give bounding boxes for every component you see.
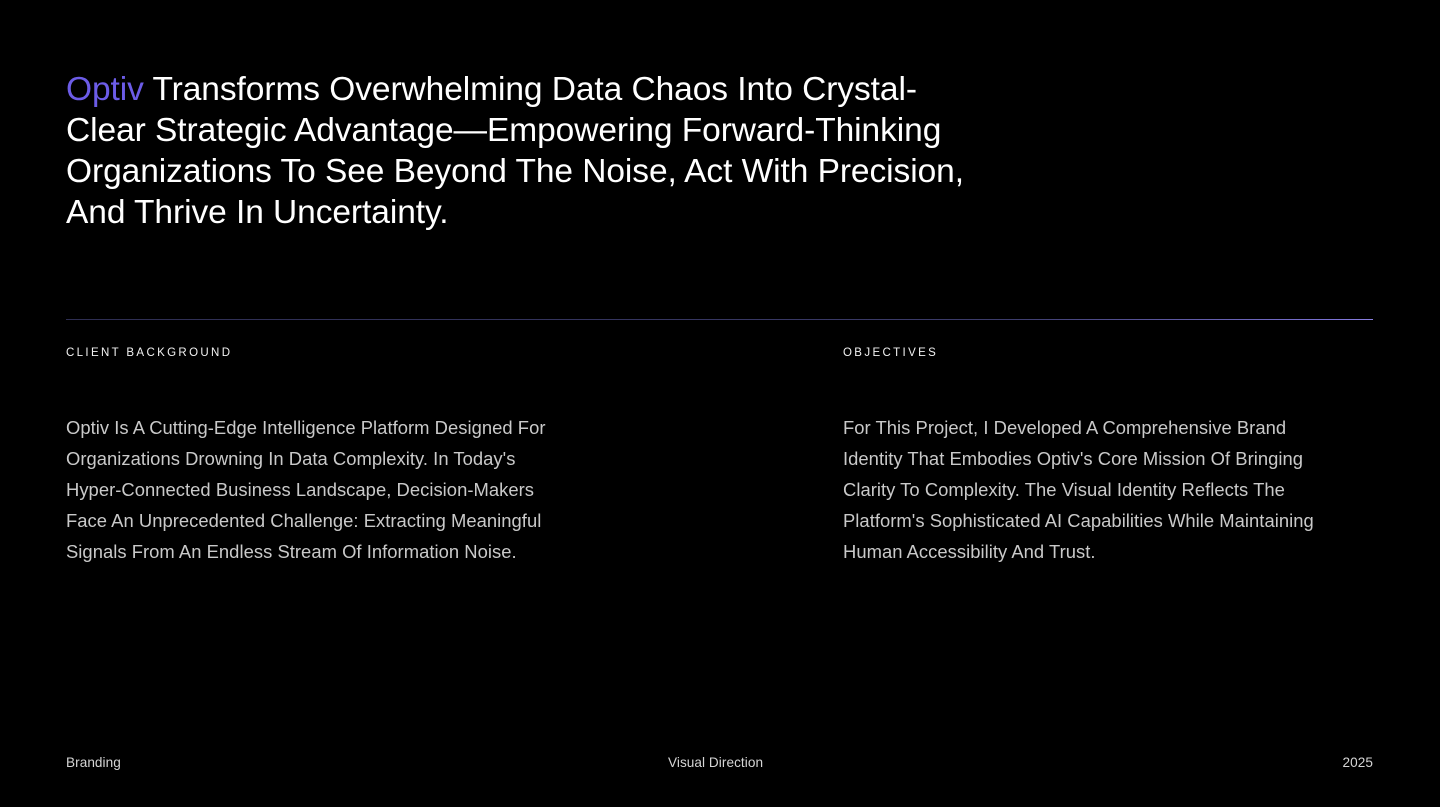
content-columns: Client Background Optiv Is A Cutting-Edg…: [66, 345, 1373, 567]
footer-discipline: Visual Direction: [668, 752, 763, 774]
page-title-rest: Transforms Overwhelming Data Chaos Into …: [66, 71, 964, 231]
section-body-client-background: Optiv Is A Cutting-Edge Intelligence Pla…: [66, 412, 566, 567]
section-body-objectives: For This Project, I Developed A Comprehe…: [843, 412, 1343, 567]
section-divider: [66, 319, 1373, 320]
section-label-objectives: Objectives: [843, 345, 1343, 361]
footer-category: Branding: [66, 752, 121, 774]
section-label-client-background: Client Background: [66, 345, 566, 361]
section-objectives: Objectives For This Project, I Developed…: [843, 345, 1343, 567]
footer-year: 2025: [1343, 752, 1373, 774]
section-client-background: Client Background Optiv Is A Cutting-Edg…: [66, 345, 566, 567]
slide-root: Optiv Transforms Overwhelming Data Chaos…: [0, 0, 1440, 807]
brand-name-optiv: Optiv: [66, 71, 144, 108]
slide-footer: Branding Visual Direction 2025: [66, 752, 1373, 774]
page-title: Optiv Transforms Overwhelming Data Chaos…: [66, 69, 966, 233]
